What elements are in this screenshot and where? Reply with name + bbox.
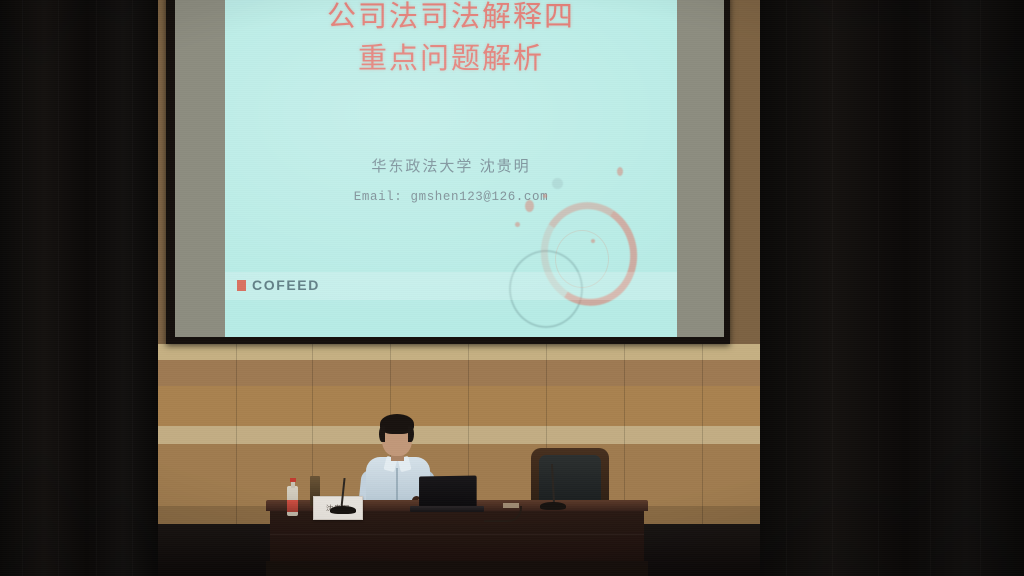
cofeed-logo-text: COFEED — [252, 277, 320, 293]
table-base — [266, 561, 648, 576]
paint-splatter — [617, 167, 623, 176]
slide-email: Email: gmshen123@126.com — [225, 190, 677, 204]
hair-side-right — [408, 426, 414, 442]
presentation-slide: 公司法司法解释四 重点问题解析 华东政法大学 沈贵明 Email: gmshen… — [225, 0, 677, 337]
lecture-hall-photo: 公司法司法解释四 重点问题解析 华东政法大学 沈贵明 Email: gmshen… — [0, 0, 1024, 576]
microphone-base — [330, 506, 356, 514]
hair-side-left — [379, 426, 385, 442]
slide-logo: COFEED — [237, 277, 320, 293]
table-panel-seam — [270, 534, 644, 535]
wall-seam — [624, 344, 625, 526]
curtain-fold — [58, 0, 59, 576]
gooseneck-microphone — [540, 476, 566, 510]
curtain-fold — [96, 0, 97, 576]
wall-seam — [702, 344, 703, 526]
paint-splatter — [591, 239, 595, 243]
slide-title-line1: 公司法司法解释四 — [327, 1, 575, 33]
paint-splatter — [515, 222, 520, 227]
laptop-keyboard-base — [410, 506, 484, 512]
laptop-screen — [419, 476, 477, 508]
projection-screen-surface: 公司法司法解释四 重点问题解析 华东政法大学 沈贵明 Email: gmshen… — [175, 0, 724, 337]
curtain-fold — [786, 0, 787, 576]
curtain-fold — [980, 0, 981, 576]
water-bottle — [287, 478, 298, 516]
gooseneck-microphone — [330, 480, 356, 514]
curtain-fold — [930, 0, 931, 576]
slide-title-line2: 重点问题解析 — [225, 38, 677, 80]
bottle-cap — [290, 478, 296, 482]
curtain-fold — [878, 0, 879, 576]
projection-screen-frame: 公司法司法解释四 重点问题解析 华东政法大学 沈贵明 Email: gmshen… — [166, 0, 730, 344]
curtain-fold — [22, 0, 23, 576]
microphone-stem — [340, 478, 345, 508]
curtain-fold — [832, 0, 833, 576]
cofeed-mark-icon — [237, 280, 246, 291]
paint-splatter — [525, 200, 534, 212]
wall-seam — [236, 344, 237, 526]
stage-curtain-right — [760, 0, 1024, 576]
stage-curtain-left — [0, 0, 158, 576]
slide-title: 公司法司法解释四 重点问题解析 — [225, 0, 677, 80]
slide-presenter: 华东政法大学 沈贵明 — [225, 154, 677, 180]
paper-sheet — [503, 503, 519, 508]
bottle-label — [287, 500, 298, 512]
paint-splatter — [552, 178, 563, 189]
open-laptop — [410, 476, 480, 514]
curtain-fold — [132, 0, 133, 576]
paint-splatter — [543, 194, 547, 198]
microphone-base — [540, 502, 566, 510]
